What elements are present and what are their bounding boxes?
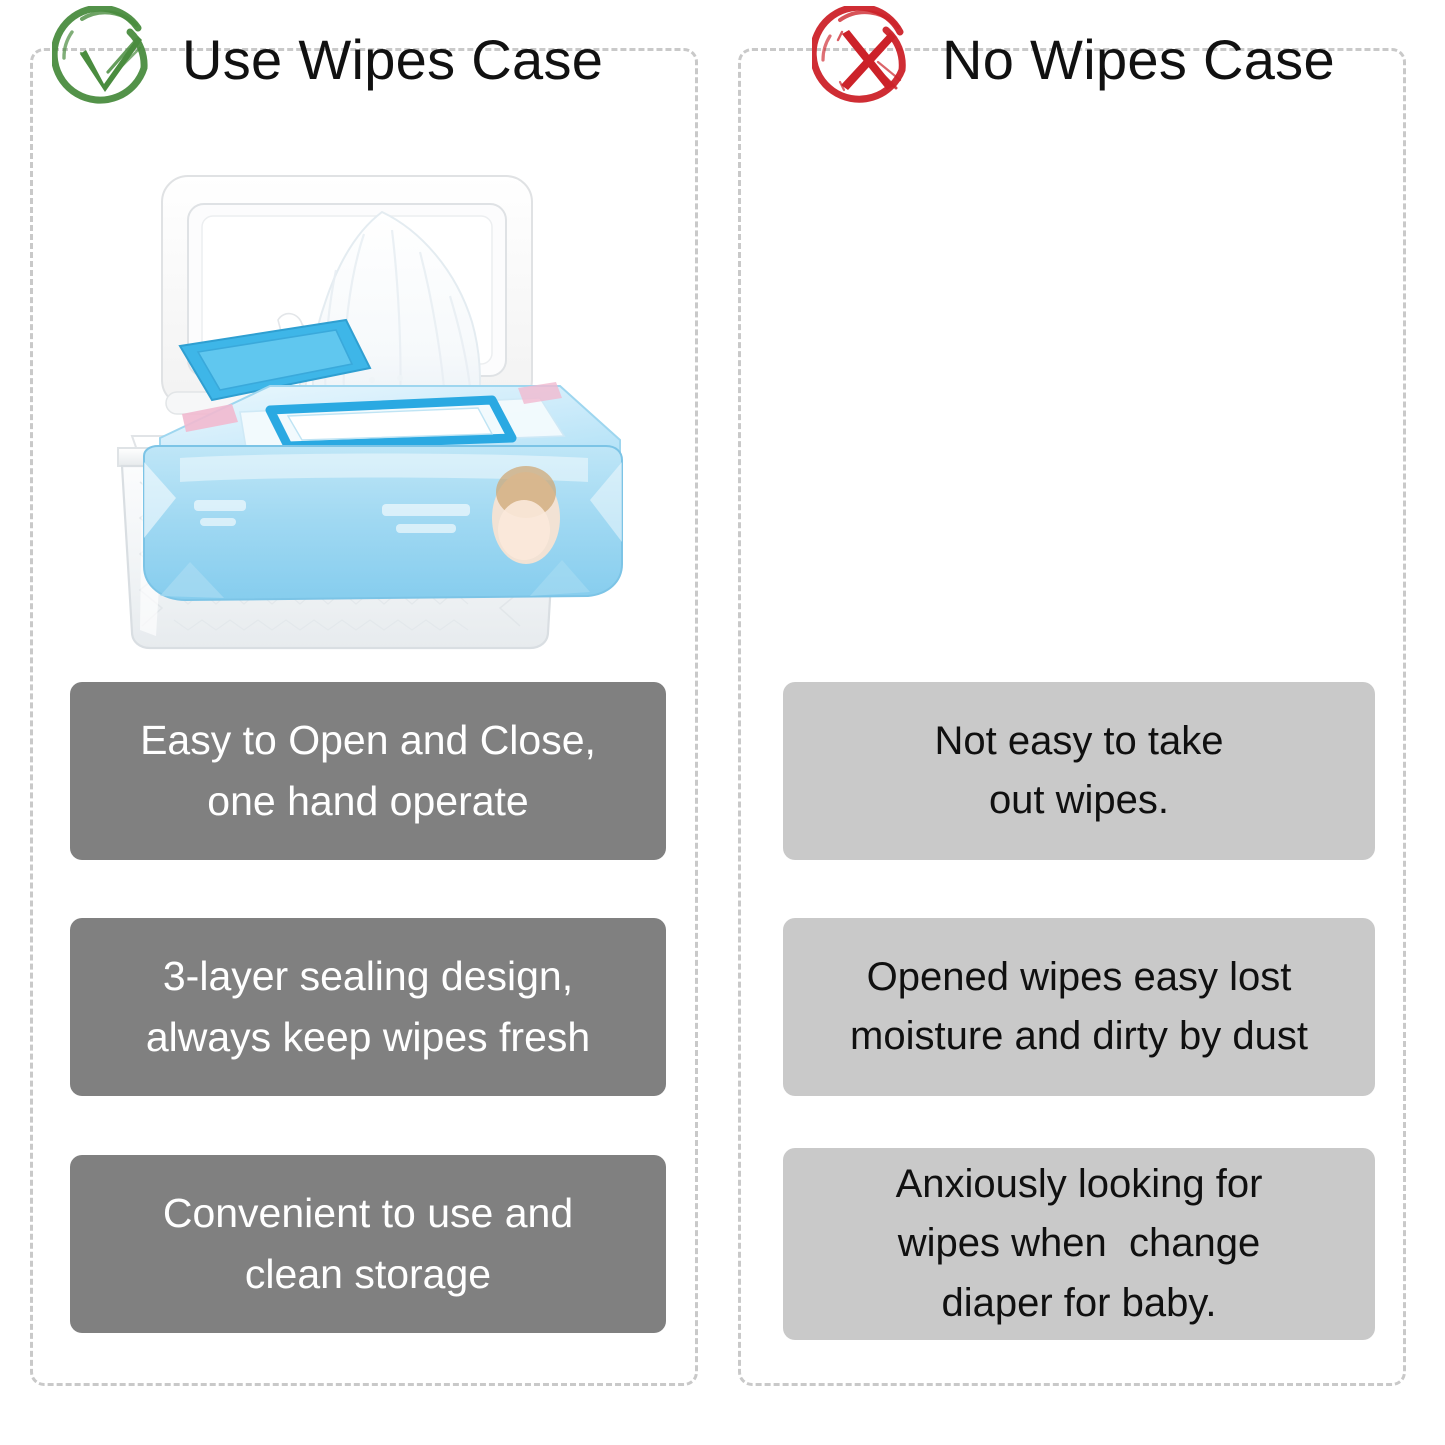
con-feature-3-line-2: wipes when change <box>898 1214 1260 1273</box>
red-cross-circle-icon <box>812 6 920 114</box>
pro-feature-box-2: 3-layer sealing design, always keep wipe… <box>70 918 666 1096</box>
con-feature-2-line-1: Opened wipes easy lost <box>867 948 1292 1007</box>
pro-feature-box-1: Easy to Open and Close, one hand operate <box>70 682 666 860</box>
con-heading: No Wipes Case <box>942 32 1335 88</box>
con-feature-box-1: Not easy to take out wipes. <box>783 682 1375 860</box>
pro-feature-3-line-1: Convenient to use and <box>163 1183 573 1244</box>
pro-feature-box-3: Convenient to use and clean storage <box>70 1155 666 1333</box>
pro-feature-1-line-1: Easy to Open and Close, <box>140 710 596 771</box>
con-feature-box-2: Opened wipes easy lost moisture and dirt… <box>783 918 1375 1096</box>
pro-feature-2-line-2: always keep wipes fresh <box>146 1007 590 1068</box>
green-check-circle-icon <box>52 6 160 114</box>
con-feature-1-line-1: Not easy to take <box>934 712 1223 771</box>
con-feature-3-line-1: Anxiously looking for <box>896 1155 1263 1214</box>
pro-feature-2-line-1: 3-layer sealing design, <box>163 946 573 1007</box>
pro-feature-3-line-2: clean storage <box>245 1244 491 1305</box>
con-header: No Wipes Case <box>812 0 1335 120</box>
con-feature-3-line-3: diaper for baby. <box>942 1274 1217 1333</box>
con-feature-1-line-2: out wipes. <box>989 771 1169 830</box>
comparison-infographic: Use Wipes Case <box>0 0 1445 1445</box>
pro-feature-1-line-2: one hand operate <box>207 771 528 832</box>
con-feature-box-3: Anxiously looking for wipes when change … <box>783 1148 1375 1340</box>
pro-heading: Use Wipes Case <box>182 32 603 88</box>
pro-header: Use Wipes Case <box>52 0 603 120</box>
con-feature-2-line-2: moisture and dirty by dust <box>850 1007 1308 1066</box>
blue-wipes-pouch-image <box>120 200 660 670</box>
